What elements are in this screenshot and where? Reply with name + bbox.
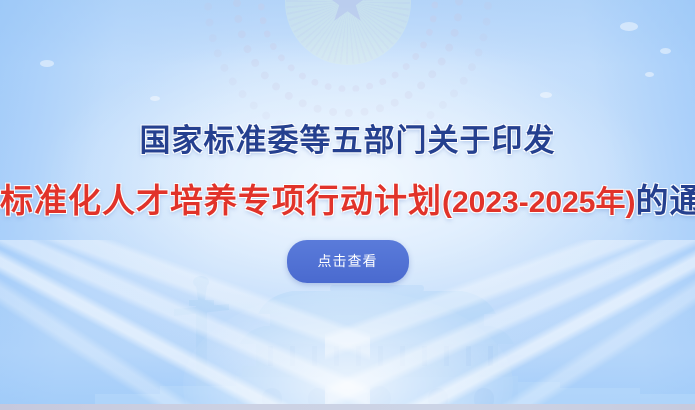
banner-title-line-2: 标准化人才培养专项行动计划(2023-2025年)的通知 <box>0 181 695 223</box>
plan-name-text: 标准化人才培养专项行动计划 <box>0 182 442 219</box>
notice-suffix-text: 的通知 <box>635 182 695 219</box>
view-details-button[interactable]: 点击查看 <box>287 240 409 283</box>
bottom-edge-strip <box>0 404 695 410</box>
banner-title-line-1: 国家标准委等五部门关于印发 <box>0 122 695 160</box>
plan-years-text: (2023-2025年) <box>442 186 635 219</box>
banner-content: 国家标准委等五部门关于印发 标准化人才培养专项行动计划(2023-2025年)的… <box>0 0 695 410</box>
policy-notice-banner: 国家标准委等五部门关于印发 标准化人才培养专项行动计划(2023-2025年)的… <box>0 0 695 410</box>
cta-container: 点击查看 <box>0 240 695 283</box>
